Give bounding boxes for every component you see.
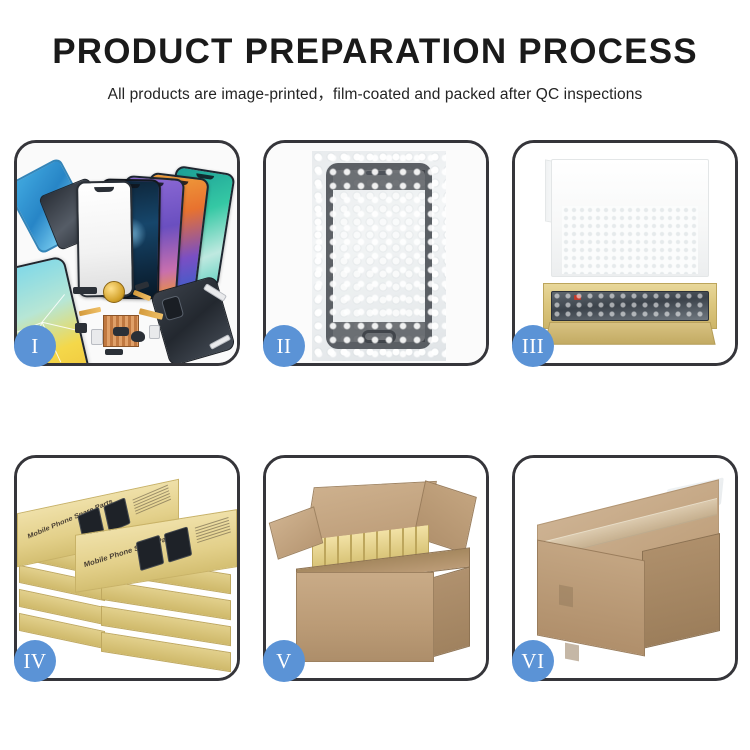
wrapped-screen-in-box (551, 291, 709, 321)
kraft-box-front-wall (544, 322, 715, 345)
sealed-carton-front-face (537, 540, 645, 657)
box-spec-lines (195, 517, 231, 545)
tape-tab-upper (559, 585, 573, 608)
process-panel-grid: I II III (14, 140, 738, 681)
small-part (149, 325, 160, 339)
panel-2-image (266, 143, 486, 363)
panel-badge-3: III (512, 325, 554, 367)
panel-badge-2: II (263, 325, 305, 367)
panel-badge-4: IV (14, 640, 56, 682)
small-part (91, 329, 103, 345)
small-part (75, 323, 87, 333)
sealed-carton-side-face (642, 533, 720, 649)
tape-tab-lower (565, 643, 579, 662)
process-panel-1: I (14, 140, 240, 366)
speaker-coil-part (103, 281, 125, 303)
process-panel-5: V (263, 455, 489, 681)
speaker-part (131, 331, 145, 342)
small-part (105, 349, 123, 355)
panel-badge-6: VI (512, 640, 554, 682)
header: PRODUCT PREPARATION PROCESS All products… (0, 0, 750, 104)
box-screen-thumbnail (136, 535, 164, 571)
box-stack: Mobile Phone Spare Parts Mobile Phone Sp… (17, 458, 237, 678)
flex-cable-part (79, 307, 102, 316)
panel-1-image (17, 143, 237, 363)
panel-4-image: Mobile Phone Spare Parts Mobile Phone Sp… (17, 458, 237, 678)
label-sticker (574, 295, 581, 300)
phone-screen-1 (76, 181, 134, 298)
panel-badge-1: I (14, 325, 56, 367)
page-subtitle: All products are image-printed，film-coat… (0, 82, 750, 104)
small-part (73, 287, 97, 294)
phone-screen-outline (326, 163, 432, 349)
panel-5-image (266, 458, 486, 678)
home-button-icon (362, 330, 396, 343)
box-screen-thumbnail (164, 526, 192, 562)
foam-lid-panel (551, 159, 709, 277)
carton-side-face (432, 567, 470, 658)
panel-6-image (515, 458, 735, 678)
page-title: PRODUCT PREPARATION PROCESS (0, 34, 750, 69)
process-panel-2: II (263, 140, 489, 366)
earpiece-slot-icon (366, 171, 392, 175)
panel-3-image (515, 143, 735, 363)
process-panel-3: III (512, 140, 738, 366)
crack-line (42, 294, 66, 323)
bubble-wrap-sheet (312, 151, 446, 361)
process-panel-4: Mobile Phone Spare Parts Mobile Phone Sp… (14, 455, 240, 681)
panel-badge-5: V (263, 640, 305, 682)
small-part (113, 327, 129, 336)
box-spec-lines (133, 485, 172, 517)
carton-front-face (296, 572, 434, 662)
process-panel-6: VI (512, 455, 738, 681)
